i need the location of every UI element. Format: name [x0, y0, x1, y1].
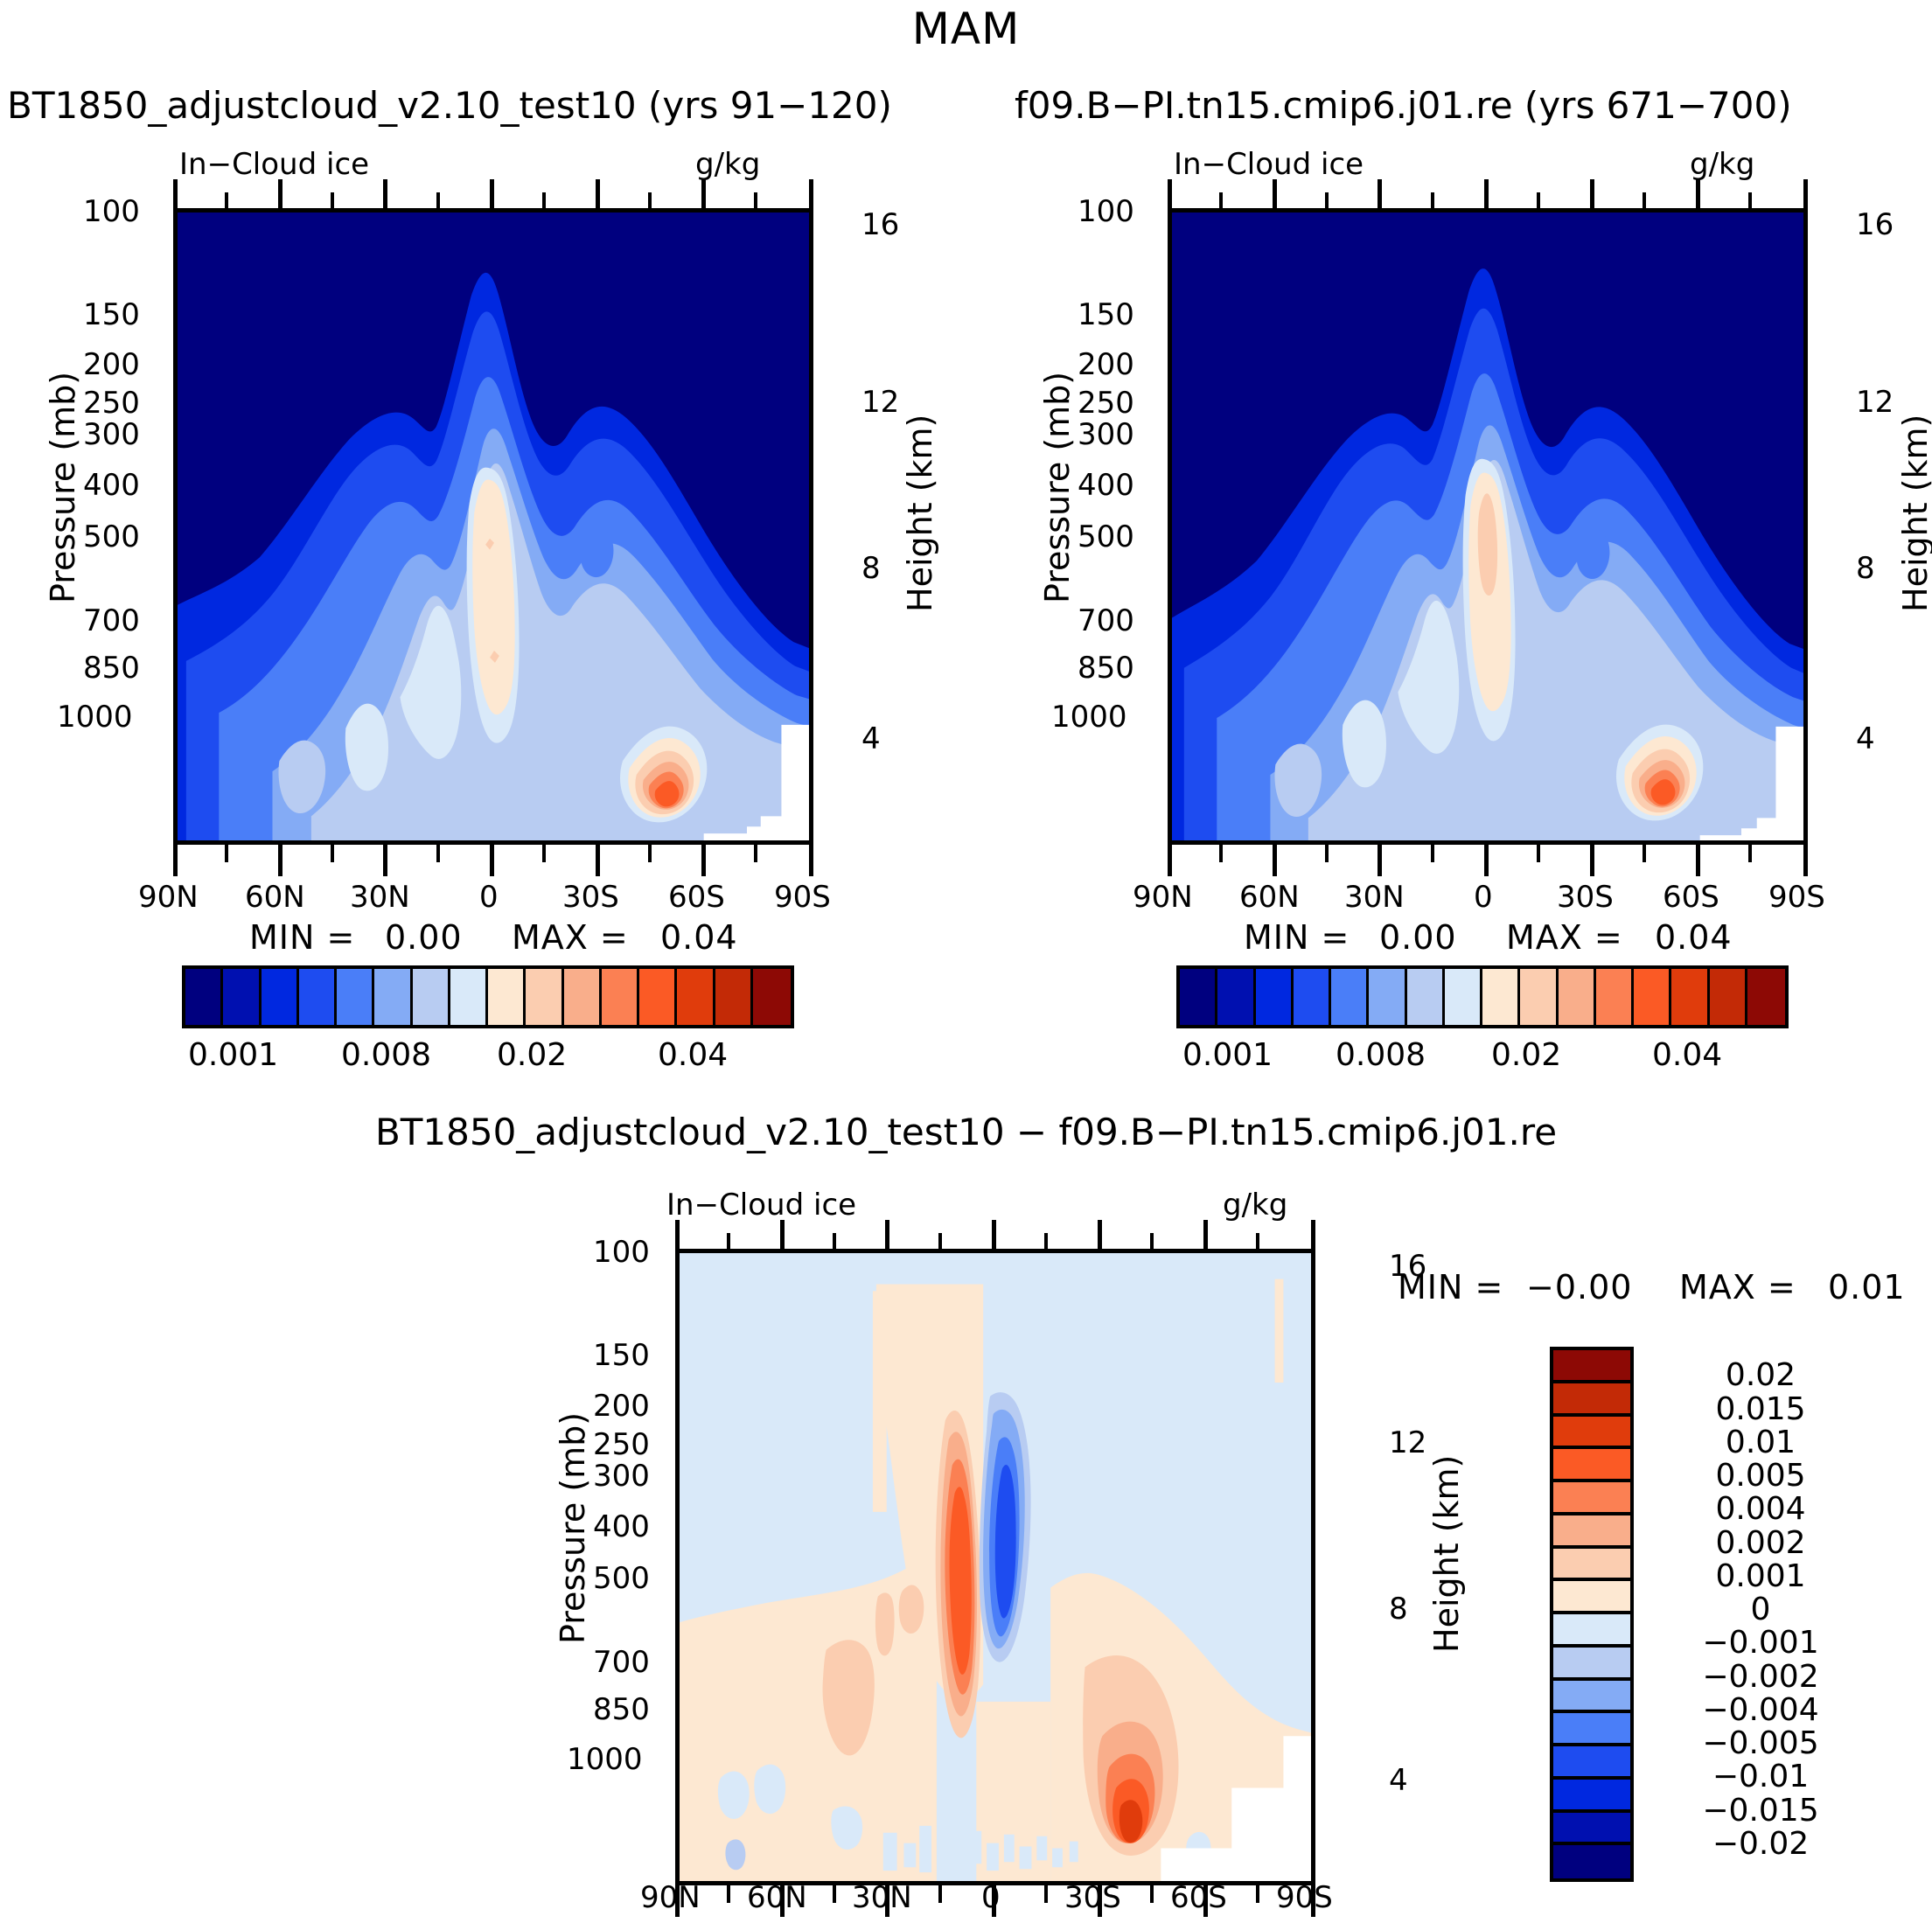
colorbar-segment	[1634, 969, 1671, 1025]
left-xtick-90S: 90S	[774, 880, 831, 915]
diff-xtick-0: 0	[981, 1880, 1001, 1915]
colorbar-segment	[526, 969, 563, 1025]
colorbar-segment	[1256, 969, 1294, 1025]
colorbar-segment	[602, 969, 639, 1025]
colorbar-segment	[299, 969, 337, 1025]
left-xtick-30N: 30N	[350, 880, 410, 915]
diff-max-label: MAX =	[1679, 1268, 1796, 1306]
colorbar-segment	[1294, 969, 1331, 1025]
colorbar-segment	[1407, 969, 1445, 1025]
left-min-value: 0.00	[385, 918, 463, 957]
left-ztick-16: 16	[861, 207, 899, 242]
diff-xtick-60N: 60N	[747, 1880, 807, 1915]
colorbar-segment	[1331, 969, 1369, 1025]
diff-ytick-250: 250	[593, 1427, 650, 1462]
left-ztick-8: 8	[861, 551, 881, 586]
colorbar-segment	[1553, 1713, 1630, 1746]
left-ytick-250: 250	[83, 386, 140, 421]
left-cb-label-0008: 0.008	[341, 1037, 431, 1073]
colorbar-segment	[1553, 1515, 1630, 1549]
left-colorbar[interactable]	[182, 965, 794, 1028]
colorbar-tick-label: −0.015	[1651, 1793, 1870, 1829]
left-cb-label-002: 0.02	[497, 1037, 567, 1073]
left-xtick-0: 0	[479, 880, 499, 915]
colorbar-tick-label: −0.02	[1651, 1826, 1870, 1862]
diff-units-label: g/kg	[1223, 1188, 1287, 1223]
diff-xtick-30N: 30N	[852, 1880, 912, 1915]
colorbar-segment	[1553, 1581, 1630, 1614]
diff-ytick-850: 850	[593, 1692, 650, 1727]
left-ztick-12: 12	[861, 385, 899, 420]
diff-max-value: 0.01	[1828, 1268, 1906, 1306]
left-contour-field	[178, 213, 809, 840]
right-cb-label-0001: 0.001	[1182, 1037, 1273, 1073]
colorbar-segment	[1553, 1350, 1630, 1383]
right-bottom-tick-row	[1168, 845, 1808, 876]
colorbar-segment	[1553, 1681, 1630, 1714]
colorbar-segment	[753, 969, 791, 1025]
colorbar-segment	[1553, 1614, 1630, 1648]
colorbar-segment	[1520, 969, 1558, 1025]
diff-min-value: −0.00	[1526, 1268, 1632, 1306]
diff-xtick-90S: 90S	[1276, 1880, 1333, 1915]
right-contour-plot[interactable]	[1168, 208, 1808, 845]
left-max-label: MAX =	[512, 918, 629, 957]
left-units-label: g/kg	[695, 147, 760, 182]
right-panel-title: f09.B−PI.tn15.cmip6.j01.re (yrs 671−700)	[1015, 84, 1792, 127]
right-ytick-850: 850	[1078, 651, 1134, 686]
right-ytick-700: 700	[1078, 603, 1134, 638]
colorbar-segment	[677, 969, 715, 1025]
right-height-axis-title: Height (km)	[1896, 415, 1932, 612]
right-ytick-200: 200	[1078, 347, 1134, 382]
left-ytick-150: 150	[83, 297, 140, 332]
colorbar-tick-label: 0.015	[1651, 1391, 1870, 1427]
diff-ytick-400: 400	[593, 1509, 650, 1544]
diff-ytick-700: 700	[593, 1645, 650, 1680]
right-top-tick-row	[1168, 179, 1808, 208]
right-cb-label-004: 0.04	[1652, 1037, 1722, 1073]
right-ytick-250: 250	[1078, 386, 1134, 421]
left-panel-title: BT1850_adjustcloud_v2.10_test10 (yrs 91−…	[7, 84, 892, 127]
colorbar-tick-label: −0.005	[1651, 1725, 1870, 1761]
colorbar-tick-label: 0.001	[1651, 1558, 1870, 1594]
colorbar-tick-label: −0.001	[1651, 1625, 1870, 1661]
right-xtick-60S: 60S	[1663, 880, 1719, 915]
colorbar-segment	[1553, 1549, 1630, 1582]
colorbar-segment	[1180, 969, 1217, 1025]
colorbar-segment	[1710, 969, 1747, 1025]
left-top-tick-row	[173, 179, 813, 208]
diff-pressure-axis-title: Pressure (mb)	[554, 1412, 592, 1644]
right-contour-field	[1172, 213, 1803, 840]
colorbar-segment	[1553, 1449, 1630, 1482]
colorbar-segment	[564, 969, 602, 1025]
diff-xtick-60S: 60S	[1170, 1880, 1227, 1915]
colorbar-segment	[1553, 1845, 1630, 1878]
left-cb-label-004: 0.04	[658, 1037, 728, 1073]
difference-colorbar[interactable]	[1550, 1347, 1634, 1882]
colorbar-tick-label: −0.01	[1651, 1759, 1870, 1794]
colorbar-tick-label: 0.004	[1651, 1491, 1870, 1527]
right-ztick-12: 12	[1856, 385, 1894, 420]
colorbar-segment	[1217, 969, 1255, 1025]
diff-ytick-1000: 1000	[567, 1742, 643, 1777]
diff-min-label: MIN =	[1398, 1268, 1503, 1306]
diff-height-axis-title: Height (km)	[1427, 1455, 1466, 1653]
colorbar-segment	[1553, 1648, 1630, 1681]
diff-ytick-300: 300	[593, 1459, 650, 1494]
right-max-value: 0.04	[1655, 918, 1733, 957]
left-xtick-90N: 90N	[138, 880, 199, 915]
right-variable-label: In−Cloud ice	[1174, 147, 1364, 182]
left-bottom-tick-row	[173, 845, 813, 876]
right-xtick-30S: 30S	[1557, 880, 1614, 915]
left-cb-label-0001: 0.001	[188, 1037, 278, 1073]
difference-contour-plot[interactable]	[675, 1249, 1315, 1885]
right-xtick-60N: 60N	[1239, 880, 1300, 915]
diff-xtick-90N: 90N	[640, 1880, 701, 1915]
right-colorbar[interactable]	[1176, 965, 1789, 1028]
colorbar-segment	[262, 969, 299, 1025]
right-units-label: g/kg	[1690, 147, 1754, 182]
season-title: MAM	[0, 3, 1932, 54]
right-xtick-90N: 90N	[1133, 880, 1193, 915]
colorbar-segment	[1747, 969, 1785, 1025]
diff-ztick-12: 12	[1389, 1425, 1426, 1460]
diff-ytick-200: 200	[593, 1389, 650, 1424]
diff-top-tick-row	[675, 1220, 1315, 1249]
diff-variable-label: In−Cloud ice	[666, 1188, 856, 1223]
colorbar-segment	[1596, 969, 1634, 1025]
left-ztick-4: 4	[861, 721, 881, 756]
colorbar-segment	[1445, 969, 1482, 1025]
difference-colorbar-labels: 0.020.0150.010.0050.0040.0020.0010−0.001…	[1651, 1347, 1896, 1882]
colorbar-tick-label: −0.002	[1651, 1659, 1870, 1695]
right-min-label: MIN =	[1244, 918, 1350, 957]
right-min-value: 0.00	[1379, 918, 1457, 957]
difference-contour-field	[680, 1253, 1311, 1881]
diff-xtick-30S: 30S	[1064, 1880, 1121, 1915]
colorbar-segment	[337, 969, 374, 1025]
right-xtick-90S: 90S	[1768, 880, 1825, 915]
right-cb-label-002: 0.02	[1491, 1037, 1561, 1073]
colorbar-tick-label: 0.002	[1651, 1525, 1870, 1561]
right-ytick-150: 150	[1078, 297, 1134, 332]
left-ytick-500: 500	[83, 519, 140, 554]
colorbar-tick-label: 0.02	[1651, 1357, 1870, 1393]
colorbar-tick-label: 0.01	[1651, 1425, 1870, 1460]
right-ytick-1000: 1000	[1051, 700, 1127, 735]
colorbar-segment	[1553, 1482, 1630, 1515]
colorbar-tick-label: 0	[1651, 1592, 1870, 1627]
left-xtick-60S: 60S	[668, 880, 725, 915]
left-xtick-60N: 60N	[245, 880, 305, 915]
colorbar-segment	[1559, 969, 1596, 1025]
colorbar-segment	[639, 969, 677, 1025]
left-ytick-1000: 1000	[57, 700, 133, 735]
left-ytick-100: 100	[83, 194, 140, 229]
colorbar-segment	[185, 969, 223, 1025]
left-ytick-850: 850	[83, 651, 140, 686]
left-pressure-axis-title: Pressure (mb)	[44, 372, 82, 603]
right-xtick-0: 0	[1474, 880, 1493, 915]
colorbar-segment	[1553, 1780, 1630, 1813]
right-xtick-30N: 30N	[1344, 880, 1405, 915]
left-height-axis-title: Height (km)	[901, 415, 939, 612]
colorbar-segment	[715, 969, 753, 1025]
colorbar-segment	[1553, 1813, 1630, 1846]
left-ytick-400: 400	[83, 468, 140, 503]
left-min-label: MIN =	[249, 918, 355, 957]
colorbar-segment	[374, 969, 412, 1025]
colorbar-segment	[223, 969, 261, 1025]
diff-ytick-150: 150	[593, 1338, 650, 1373]
diff-ytick-500: 500	[593, 1561, 650, 1596]
colorbar-tick-label: 0.005	[1651, 1458, 1870, 1494]
diff-ztick-8: 8	[1389, 1592, 1408, 1627]
diff-ztick-4: 4	[1389, 1763, 1408, 1798]
right-ytick-300: 300	[1078, 417, 1134, 452]
right-cb-label-0008: 0.008	[1336, 1037, 1426, 1073]
left-contour-plot[interactable]	[173, 208, 813, 845]
right-pressure-axis-title: Pressure (mb)	[1038, 372, 1077, 603]
colorbar-segment	[413, 969, 450, 1025]
colorbar-segment	[450, 969, 488, 1025]
left-xtick-30S: 30S	[562, 880, 619, 915]
colorbar-segment	[1482, 969, 1520, 1025]
left-max-value: 0.04	[660, 918, 738, 957]
colorbar-tick-label: −0.004	[1651, 1692, 1870, 1728]
left-ytick-700: 700	[83, 603, 140, 638]
right-ztick-16: 16	[1856, 207, 1894, 242]
colorbar-segment	[1671, 969, 1709, 1025]
colorbar-segment	[488, 969, 526, 1025]
left-variable-label: In−Cloud ice	[179, 147, 369, 182]
right-ztick-8: 8	[1856, 551, 1875, 586]
right-max-label: MAX =	[1506, 918, 1623, 957]
difference-panel-title: BT1850_adjustcloud_v2.10_test10 − f09.B−…	[0, 1111, 1932, 1153]
colorbar-segment	[1553, 1417, 1630, 1450]
right-ytick-100: 100	[1078, 194, 1134, 229]
left-ytick-300: 300	[83, 417, 140, 452]
colorbar-segment	[1553, 1746, 1630, 1780]
left-ytick-200: 200	[83, 347, 140, 382]
colorbar-segment	[1553, 1383, 1630, 1417]
right-ytick-400: 400	[1078, 468, 1134, 503]
colorbar-segment	[1369, 969, 1406, 1025]
right-ztick-4: 4	[1856, 721, 1875, 756]
right-ytick-500: 500	[1078, 519, 1134, 554]
diff-ytick-100: 100	[593, 1235, 650, 1270]
